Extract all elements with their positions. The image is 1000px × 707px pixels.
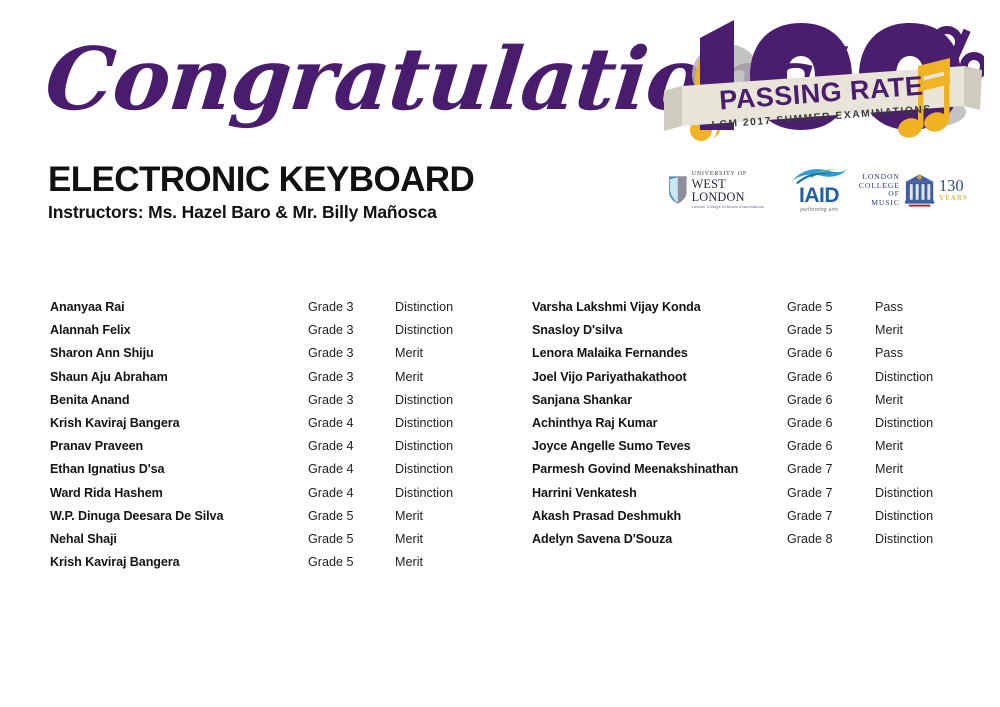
- result-row: W.P. Dinuga Deesara De SilvaGrade 5Merit: [50, 505, 510, 528]
- student-result: Distinction: [395, 296, 453, 319]
- congratulations-headline: Congratulations!: [46, 20, 666, 140]
- student-result: Distinction: [395, 389, 453, 412]
- student-name: Lenora Malaika Fernandes: [532, 342, 688, 365]
- lcm-anniversary-years: YEARS: [939, 194, 968, 202]
- congratulations-text: Congratulations!: [40, 20, 673, 140]
- student-result: Merit: [875, 458, 903, 481]
- student-name: Akash Prasad Deshmukh: [532, 505, 681, 528]
- student-grade: Grade 3: [308, 389, 354, 412]
- student-name: Pranav Praveen: [50, 435, 143, 458]
- result-row: Lenora Malaika FernandesGrade 6Pass: [532, 342, 982, 365]
- result-row: Sanjana ShankarGrade 6Merit: [532, 389, 982, 412]
- student-name: Varsha Lakshmi Vijay Konda: [532, 296, 701, 319]
- student-grade: Grade 6: [787, 412, 833, 435]
- student-result: Distinction: [875, 528, 933, 551]
- student-grade: Grade 4: [308, 435, 354, 458]
- result-row: Alannah FelixGrade 3Distinction: [50, 319, 510, 342]
- student-grade: Grade 6: [787, 342, 833, 365]
- result-row: Akash Prasad DeshmukhGrade 7Distinction: [532, 505, 982, 528]
- student-result: Merit: [395, 505, 423, 528]
- student-name: Nehal Shaji: [50, 528, 117, 551]
- student-grade: Grade 7: [787, 505, 833, 528]
- uwl-shield-icon: [668, 175, 688, 205]
- student-result: Distinction: [875, 412, 933, 435]
- student-name: Harrini Venkatesh: [532, 482, 637, 505]
- student-grade: Grade 7: [787, 482, 833, 505]
- student-name: Shaun Aju Abraham: [50, 366, 168, 389]
- student-name: Achinthya Raj Kumar: [532, 412, 657, 435]
- student-result: Pass: [875, 342, 903, 365]
- instructors-line: Instructors: Ms. Hazel Baro & Mr. Billy …: [48, 202, 437, 223]
- student-name: Parmesh Govind Meenakshinathan: [532, 458, 738, 481]
- student-name: W.P. Dinuga Deesara De Silva: [50, 505, 223, 528]
- student-name: Alannah Felix: [50, 319, 131, 342]
- logo-university-of-west-london: UNIVERSITY OF WEST LONDON London College…: [668, 171, 780, 209]
- result-row: Shaun Aju AbrahamGrade 3Merit: [50, 366, 510, 389]
- page-title: ELECTRONIC KEYBOARD: [48, 160, 474, 200]
- result-row: Varsha Lakshmi Vijay KondaGrade 5Pass: [532, 296, 982, 319]
- student-grade: Grade 5: [787, 319, 833, 342]
- student-grade: Grade 7: [787, 458, 833, 481]
- results-column-left: Ananyaa RaiGrade 3DistinctionAlannah Fel…: [50, 296, 510, 574]
- result-row: Ethan Ignatius D'saGrade 4Distinction: [50, 458, 510, 481]
- result-row: Achinthya Raj KumarGrade 6Distinction: [532, 412, 982, 435]
- student-grade: Grade 3: [308, 296, 354, 319]
- result-row: Ananyaa RaiGrade 3Distinction: [50, 296, 510, 319]
- student-result: Distinction: [395, 482, 453, 505]
- student-result: Distinction: [875, 505, 933, 528]
- student-grade: Grade 4: [308, 458, 354, 481]
- accreditation-logos: UNIVERSITY OF WEST LONDON London College…: [668, 166, 968, 214]
- badge-graphic: PASSING RATE LCM 2017 SUMMER EXAMINATION…: [664, 8, 984, 158]
- logo-london-college-of-music: LONDON COLLEGE OF MUSIC 130 YEARS: [858, 172, 968, 208]
- student-grade: Grade 6: [787, 366, 833, 389]
- student-result: Merit: [395, 528, 423, 551]
- student-grade: Grade 4: [308, 482, 354, 505]
- result-row: Nehal ShajiGrade 5Merit: [50, 528, 510, 551]
- student-name: Joel Vijo Pariyathakathoot: [532, 366, 687, 389]
- student-result: Distinction: [395, 458, 453, 481]
- result-row: Pranav PraveenGrade 4Distinction: [50, 435, 510, 458]
- logo-iaid: IAID performing arts: [790, 167, 848, 213]
- student-result: Pass: [875, 296, 903, 319]
- passing-rate-badge: PASSING RATE LCM 2017 SUMMER EXAMINATION…: [664, 8, 984, 158]
- student-result: Merit: [395, 366, 423, 389]
- student-result: Distinction: [875, 482, 933, 505]
- student-name: Benita Anand: [50, 389, 130, 412]
- student-grade: Grade 3: [308, 319, 354, 342]
- result-row: Parmesh Govind MeenakshinathanGrade 7Mer…: [532, 458, 982, 481]
- result-row: Benita AnandGrade 3Distinction: [50, 389, 510, 412]
- student-name: Ward Rida Hashem: [50, 482, 163, 505]
- student-grade: Grade 5: [787, 296, 833, 319]
- student-result: Distinction: [395, 319, 453, 342]
- student-grade: Grade 4: [308, 412, 354, 435]
- student-name: Joyce Angelle Sumo Teves: [532, 435, 691, 458]
- student-grade: Grade 5: [308, 505, 354, 528]
- result-row: Krish Kaviraj BangeraGrade 4Distinction: [50, 412, 510, 435]
- iaid-wordmark: IAID: [799, 185, 839, 206]
- student-name: Sharon Ann Shiju: [50, 342, 154, 365]
- student-name: Krish Kaviraj Bangera: [50, 551, 180, 574]
- result-row: Joel Vijo PariyathakathootGrade 6Distinc…: [532, 366, 982, 389]
- student-result: Distinction: [395, 435, 453, 458]
- student-grade: Grade 8: [787, 528, 833, 551]
- student-result: Merit: [875, 435, 903, 458]
- student-grade: Grade 5: [308, 551, 354, 574]
- lcm-crest-icon: [903, 172, 936, 208]
- iaid-tagline: performing arts: [800, 207, 838, 213]
- result-row: Joyce Angelle Sumo TevesGrade 6Merit: [532, 435, 982, 458]
- student-name: Krish Kaviraj Bangera: [50, 412, 180, 435]
- student-grade: Grade 6: [787, 389, 833, 412]
- student-grade: Grade 3: [308, 342, 354, 365]
- student-grade: Grade 6: [787, 435, 833, 458]
- lcm-anniversary-number: 130: [939, 178, 968, 195]
- student-name: Sanjana Shankar: [532, 389, 632, 412]
- student-result: Distinction: [395, 412, 453, 435]
- student-grade: Grade 3: [308, 366, 354, 389]
- results-column-right: Varsha Lakshmi Vijay KondaGrade 5PassSna…: [532, 296, 982, 551]
- student-grade: Grade 5: [308, 528, 354, 551]
- student-result: Merit: [395, 342, 423, 365]
- student-name: Snasloy D'silva: [532, 319, 622, 342]
- student-name: Adelyn Savena D'Souza: [532, 528, 672, 551]
- result-row: Snasloy D'silvaGrade 5Merit: [532, 319, 982, 342]
- student-result: Merit: [395, 551, 423, 574]
- lcm-line-3: OF MUSIC: [858, 190, 900, 207]
- uwl-line-2: WEST LONDON: [692, 178, 780, 203]
- result-row: Ward Rida HashemGrade 4Distinction: [50, 482, 510, 505]
- student-result: Merit: [875, 319, 903, 342]
- uwl-line-3: London College of Music Examinations: [692, 205, 780, 209]
- student-name: Ananyaa Rai: [50, 296, 125, 319]
- result-row: Sharon Ann ShijuGrade 3Merit: [50, 342, 510, 365]
- student-result: Merit: [875, 389, 903, 412]
- student-name: Ethan Ignatius D'sa: [50, 458, 164, 481]
- iaid-swoosh-icon: [790, 167, 848, 185]
- result-row: Adelyn Savena D'SouzaGrade 8Distinction: [532, 528, 982, 551]
- student-result: Distinction: [875, 366, 933, 389]
- result-row: Krish Kaviraj BangeraGrade 5Merit: [50, 551, 510, 574]
- result-row: Harrini VenkateshGrade 7Distinction: [532, 482, 982, 505]
